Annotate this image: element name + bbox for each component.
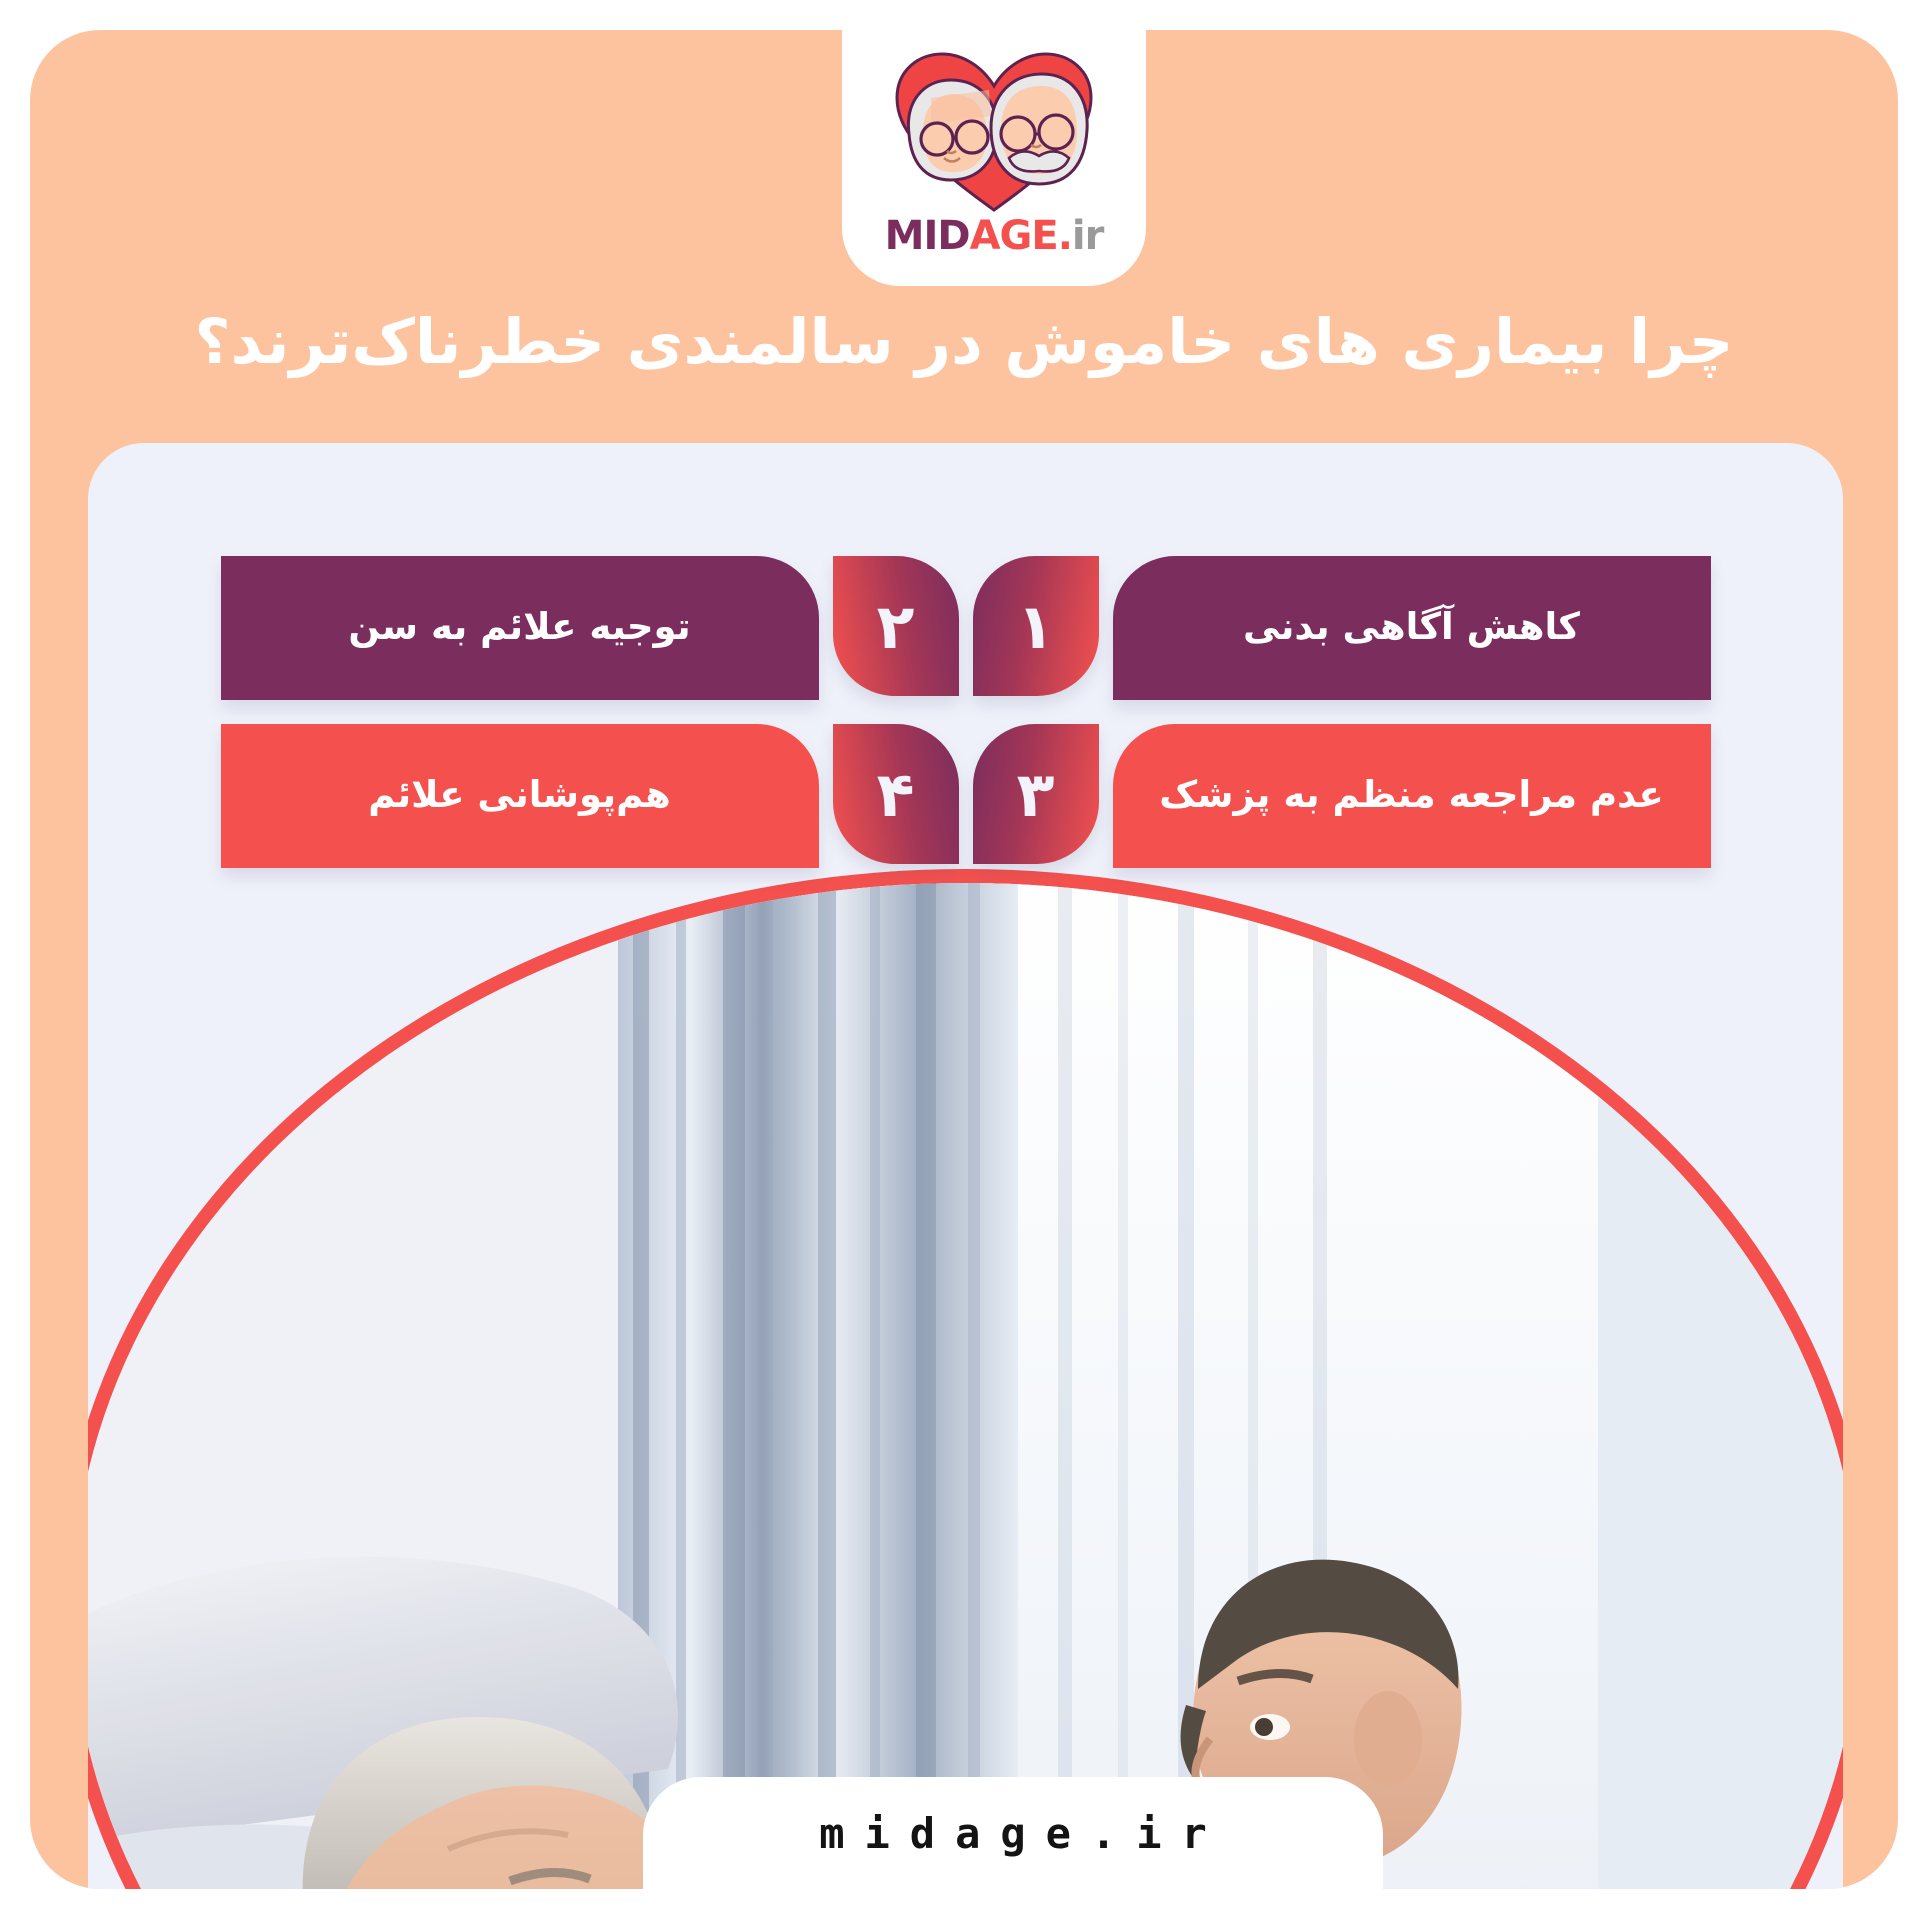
poster-frame: MIDAGE.ir چرا بیماری های خاموش در سالمند…: [30, 30, 1898, 1889]
reason-label-1: کاهش آگاهی بدنی: [1243, 605, 1580, 648]
brand-wordmark: MIDAGE.ir: [885, 213, 1104, 259]
website-watermark: midage.ir: [643, 1777, 1383, 1889]
reason-box-4[interactable]: هم‌پوشانی علائم: [221, 724, 819, 868]
photo-arc-border: [88, 869, 1843, 1889]
page-title: چرا بیماری های خاموش در سالمندی خطرناک‌ت…: [30, 303, 1898, 381]
wordmark-ir: ir: [1072, 213, 1103, 259]
reason-number-2: ۲: [833, 556, 959, 696]
brand-logo-container: MIDAGE.ir: [842, 30, 1146, 286]
reason-number-1: ۱: [973, 556, 1099, 696]
wordmark-age: AGE: [970, 213, 1058, 259]
reasons-row: عدم مراجعه منظم به پزشک ۳ ۴ هم‌پوشانی عل…: [88, 724, 1843, 864]
elderly-couple-heart-logo-icon: [879, 42, 1109, 217]
reasons-row: کاهش آگاهی بدنی ۱ ۲ توجیه علائم به سن: [88, 556, 1843, 696]
reason-label-2: توجیه علائم به سن: [348, 605, 690, 648]
photo-arc-mask: [88, 883, 1843, 1889]
reason-box-2[interactable]: توجیه علائم به سن: [221, 556, 819, 700]
photo-area: midage.ir: [88, 869, 1843, 1889]
reason-box-1[interactable]: کاهش آگاهی بدنی: [1113, 556, 1711, 700]
website-text: midage.ir: [799, 1809, 1227, 1858]
doctor-patient-illustration: [88, 883, 1843, 1889]
wordmark-dot: .: [1058, 213, 1072, 259]
content-card: کاهش آگاهی بدنی ۱ ۲ توجیه علائم به سن عد…: [88, 443, 1843, 1889]
reason-label-3: عدم مراجعه منظم به پزشک: [1159, 773, 1663, 816]
reason-label-4: هم‌پوشانی علائم: [368, 773, 671, 816]
reasons-grid: کاهش آگاهی بدنی ۱ ۲ توجیه علائم به سن عد…: [88, 556, 1843, 864]
clinic-photo: [88, 883, 1843, 1889]
reason-number-4: ۴: [833, 724, 959, 864]
wordmark-mid: MID: [885, 213, 970, 259]
reason-box-3[interactable]: عدم مراجعه منظم به پزشک: [1113, 724, 1711, 868]
reason-number-3: ۳: [973, 724, 1099, 864]
